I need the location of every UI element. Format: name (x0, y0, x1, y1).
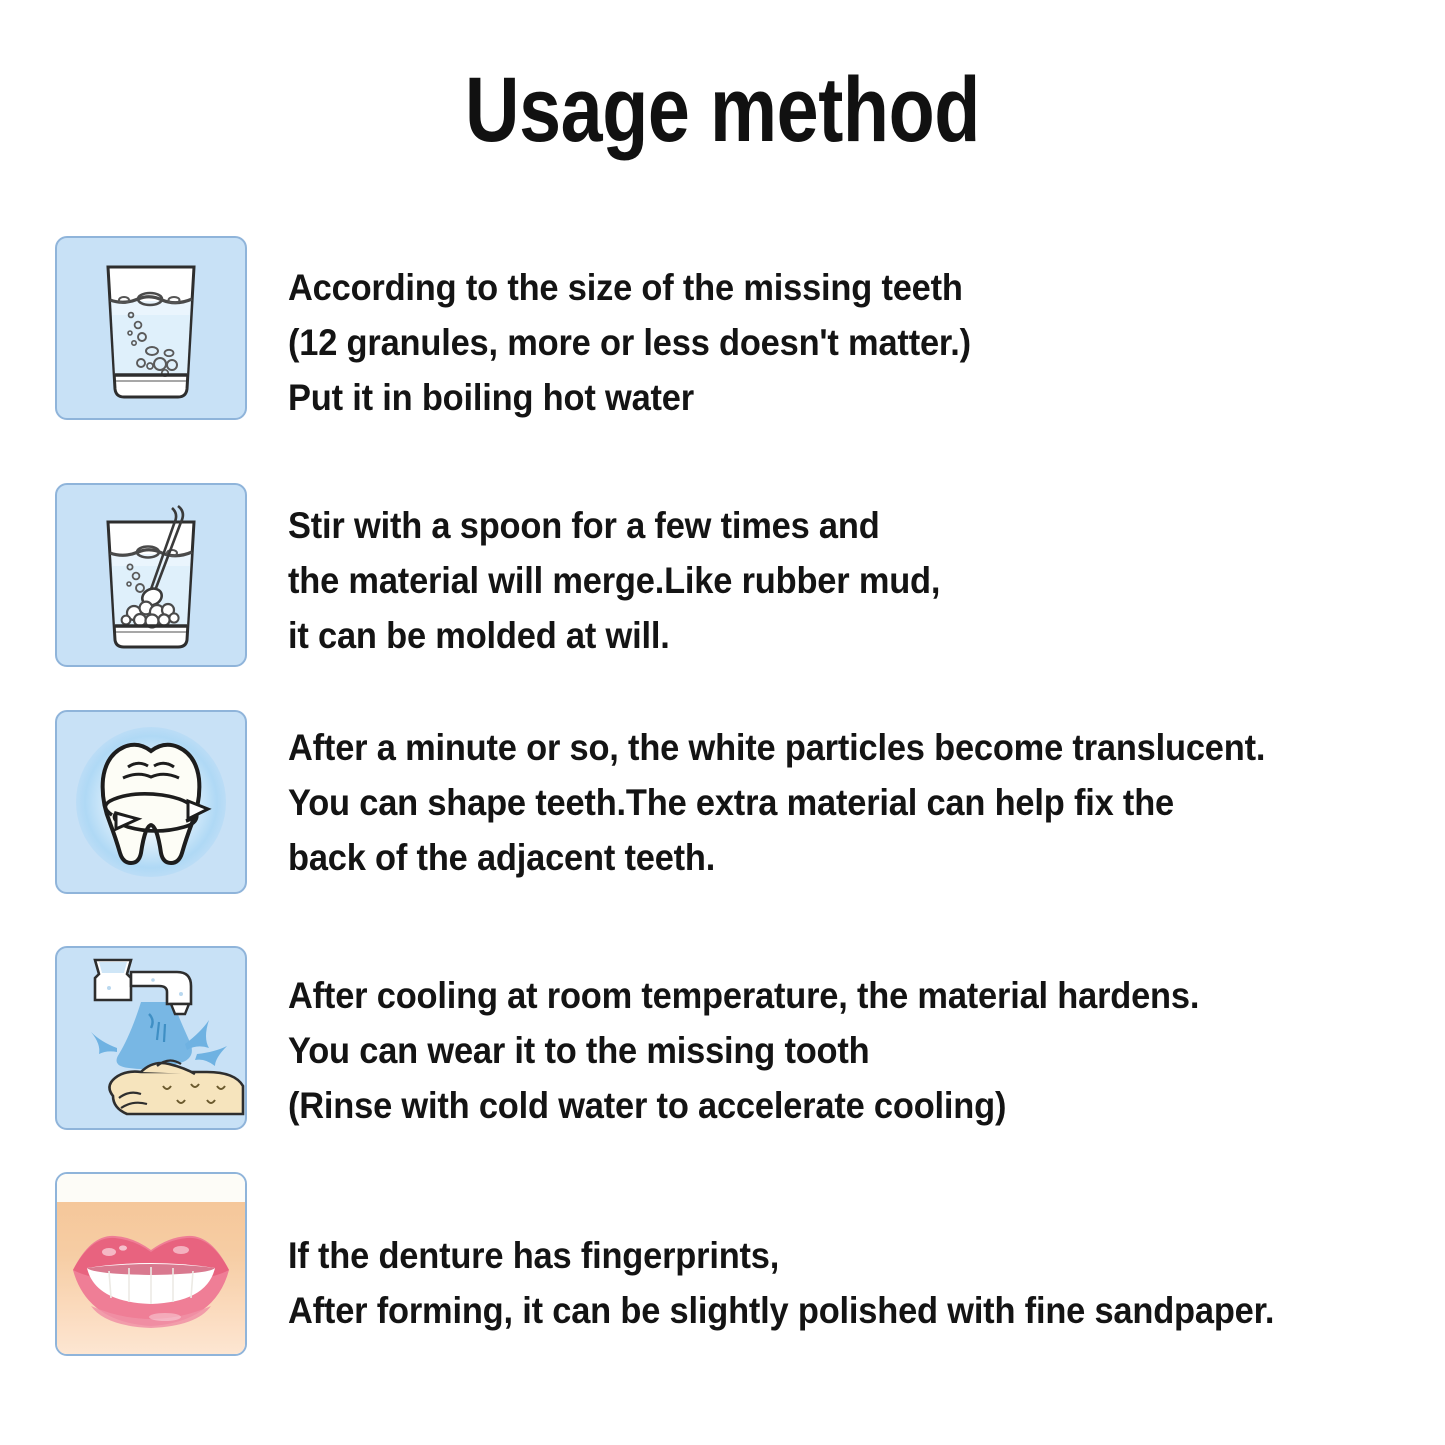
step-line: back of the adjacent teeth. (288, 830, 1265, 885)
step-text-2: Stir with a spoon for a few times and th… (288, 498, 940, 663)
tooth-shaping-icon (55, 710, 247, 894)
glass-of-hot-water-icon (55, 236, 247, 420)
step-line: the material will merge.Like rubber mud, (288, 553, 940, 608)
step-text-1: According to the size of the missing tee… (288, 260, 971, 425)
step-line: After forming, it can be slightly polish… (288, 1283, 1274, 1338)
step-text-4: After cooling at room temperature, the m… (288, 968, 1199, 1133)
usage-method-infographic: Usage method (0, 0, 1445, 1445)
step-line: (12 granules, more or less doesn't matte… (288, 315, 971, 370)
step-line: Stir with a spoon for a few times and (288, 498, 940, 553)
step-line: You can wear it to the missing tooth (288, 1023, 1199, 1078)
faucet-rinsing-hands-icon (55, 946, 247, 1130)
glass-icon-graphic (86, 253, 216, 403)
glass-spoon-icon-graphic (86, 500, 216, 650)
glass-with-spoon-stirring-icon (55, 483, 247, 667)
step-line: If the denture has fingerprints, (288, 1228, 1274, 1283)
step-line: (Rinse with cold water to accelerate coo… (288, 1078, 1199, 1133)
step-line: You can shape teeth.The extra material c… (288, 775, 1265, 830)
step-line: After a minute or so, the white particle… (288, 720, 1265, 775)
step-line: According to the size of the missing tee… (288, 260, 971, 315)
step-line: After cooling at room temperature, the m… (288, 968, 1199, 1023)
page-title: Usage method (130, 62, 1315, 158)
step-line: it can be molded at will. (288, 608, 940, 663)
faucet-hands-icon-graphic (57, 948, 245, 1128)
smiling-mouth-teeth-icon (55, 1172, 247, 1356)
mouth-icon-graphic (57, 1174, 245, 1354)
step-text-3: After a minute or so, the white particle… (288, 720, 1265, 885)
tooth-icon-graphic (76, 727, 226, 877)
step-text-5: If the denture has fingerprints, After f… (288, 1228, 1274, 1338)
step-line: Put it in boiling hot water (288, 370, 971, 425)
